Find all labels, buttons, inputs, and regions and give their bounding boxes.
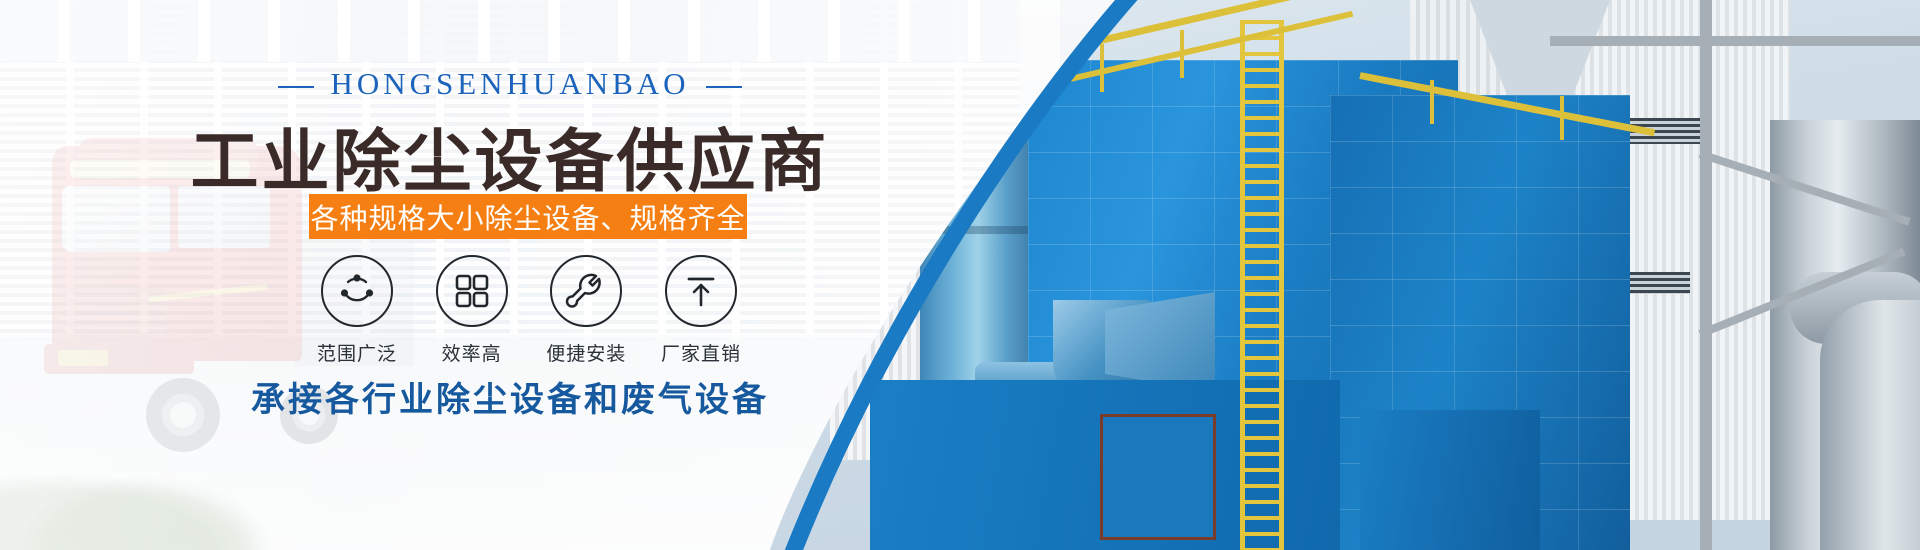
promo-banner: HONGSENHUANBAO 工业除尘设备供应商 各种规格大小除尘设备、规格齐全…: [0, 0, 1920, 550]
feature-label: 便捷安装: [538, 339, 634, 366]
feature-item-install[interactable]: 便捷安装: [538, 255, 634, 366]
feature-icon-circle: [436, 255, 508, 327]
page-title: 工业除尘设备供应商: [0, 106, 1020, 205]
eyebrow-dash-left: [278, 86, 314, 88]
guardrail-post-1: [1100, 44, 1104, 92]
guardrail-post-3: [1430, 80, 1434, 124]
feature-icon-circle: [550, 255, 622, 327]
feature-label: 范围广泛: [309, 339, 405, 366]
guardrail-post-2: [1180, 30, 1184, 78]
eyebrow-text: HONGSENHUANBAO: [330, 66, 689, 101]
wrench-icon: [565, 270, 607, 312]
steel-frame-column-1: [1700, 0, 1712, 550]
subtitle-orange-bar: 各种规格大小除尘设备、规格齐全: [309, 194, 747, 239]
arrow-up-to-line-icon: [681, 271, 721, 311]
grid-squares-icon: [452, 271, 492, 311]
tagline: 承接各行业除尘设备和废气设备: [0, 372, 1020, 421]
feature-label: 效率高: [424, 339, 520, 366]
network-nodes-icon: [336, 270, 378, 312]
discharge-hopper: [1360, 410, 1540, 550]
steel-duct: [1820, 300, 1920, 550]
feature-icon-circle: [665, 255, 737, 327]
photo-edge-fade: [940, 0, 1070, 550]
subtitle-text: 各种规格大小除尘设备、规格齐全: [310, 197, 745, 237]
feature-item-efficiency[interactable]: 效率高: [424, 255, 520, 366]
yellow-access-ladder: [1240, 20, 1284, 550]
steel-frame-beam-1: [1550, 36, 1920, 46]
feature-label: 厂家直销: [653, 339, 749, 366]
eyebrow-line: HONGSENHUANBAO: [0, 66, 1020, 102]
feature-icon-circle: [321, 255, 393, 327]
feature-list: 范围广泛 效率高: [309, 255, 749, 366]
guardrail-post-4: [1560, 96, 1564, 140]
banner-text-block: HONGSENHUANBAO 工业除尘设备供应商 各种规格大小除尘设备、规格齐全…: [0, 0, 1030, 550]
feature-item-range[interactable]: 范围广泛: [309, 255, 405, 366]
eyebrow-dash-right: [706, 86, 742, 88]
access-door: [1100, 414, 1216, 540]
feature-item-factory-direct[interactable]: 厂家直销: [653, 255, 749, 366]
